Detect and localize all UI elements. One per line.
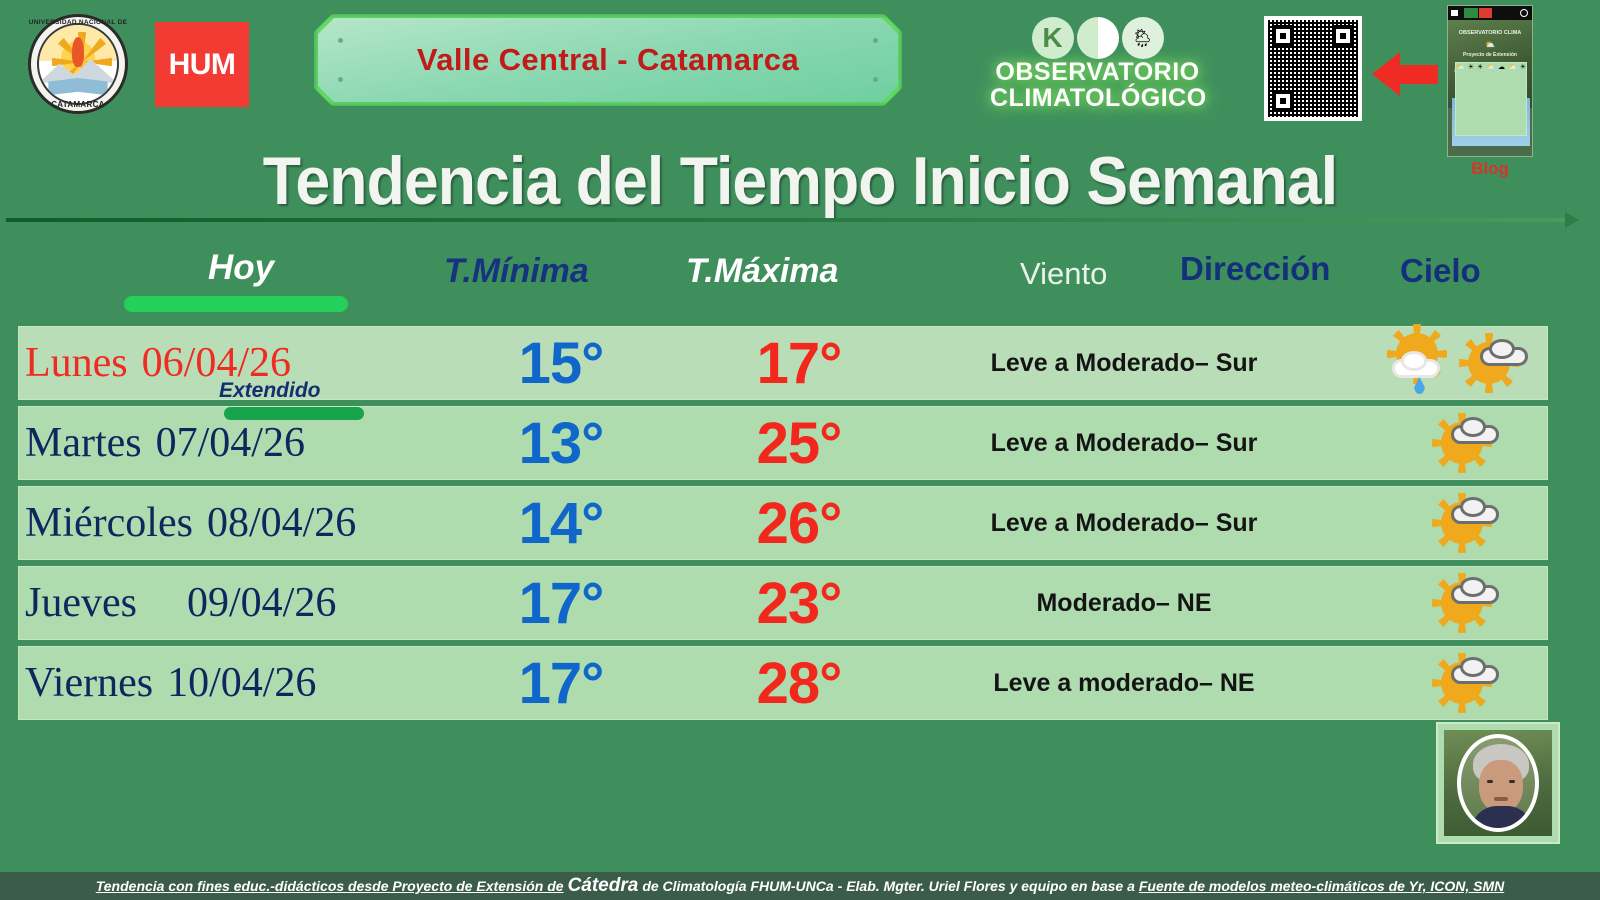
sky-cell: [1369, 407, 1549, 479]
wind-cell: Leve a Moderado– Sur: [879, 407, 1369, 479]
blog-site-title: OBSERVATORIO CLIMA: [1448, 30, 1532, 36]
column-header-maxima: T.Máxima: [686, 252, 838, 291]
footer-credits: Tendencia con fines educ.-didácticos des…: [0, 872, 1600, 900]
wind-cell: Leve a moderado– NE: [879, 647, 1369, 719]
day-name: Martes: [25, 419, 142, 467]
qr-finder-icon: [1272, 25, 1294, 47]
blog-thumbnail-image[interactable]: OBSERVATORIO CLIMA ⛅ Proyecto de Extensi…: [1447, 5, 1533, 157]
footer-catedra: Cátedra: [568, 875, 639, 897]
min-temp-value: 17°: [519, 570, 604, 637]
observatory-glyphs: 🌦: [990, 16, 1205, 60]
sky-cell: [1369, 567, 1549, 639]
hum-logo-text: HUM: [169, 48, 236, 82]
plaque-dot-icon: [338, 77, 343, 82]
observatory-line2: CLIMATOLÓGICO: [990, 86, 1205, 112]
min-temp-cell: 17°: [481, 567, 641, 639]
min-temp-cell: 17°: [481, 647, 641, 719]
sky-cell: [1369, 647, 1549, 719]
min-temp-cell: 15°: [481, 327, 641, 399]
max-temp-cell: 25°: [719, 407, 879, 479]
blog-preview[interactable]: OBSERVATORIO CLIMA ⛅ Proyecto de Extensi…: [1447, 5, 1533, 163]
qr-finder-icon: [1272, 90, 1294, 112]
max-temp-value: 23°: [757, 570, 842, 637]
table-row[interactable]: Jueves 09/04/26 17° 23° Moderado– NE: [18, 566, 1548, 640]
presenter-photo: [1436, 722, 1560, 844]
min-temp-value: 17°: [519, 650, 604, 717]
min-temp-value: 15°: [519, 330, 604, 397]
column-header-minima: T.Mínima: [444, 252, 589, 291]
wind-value: Leve a Moderado– Sur: [991, 349, 1258, 378]
day-date: 09/04/26: [187, 579, 336, 627]
footer-part1: Tendencia con fines educ.-didácticos des…: [96, 878, 564, 894]
wind-cell: Leve a Moderado– Sur: [879, 327, 1369, 399]
day-name: Jueves: [25, 579, 137, 627]
min-temp-value: 14°: [519, 490, 604, 557]
day-cell: Viernes 10/04/26: [25, 647, 495, 719]
unca-university-logo: UNIVERSIDAD NACIONAL DE CATAMARCA: [28, 14, 128, 114]
column-header-hoy: Hoy: [208, 248, 274, 288]
max-temp-cell: 28°: [719, 647, 879, 719]
observatory-logo: 🌦 OBSERVATORIO CLIMATOLÓGICO: [990, 16, 1205, 116]
column-header-cielo: Cielo: [1400, 252, 1481, 290]
unca-logo-bottom-text: CATAMARCA: [28, 100, 128, 109]
day-name: Miércoles: [25, 499, 193, 547]
qr-finder-icon: [1332, 25, 1354, 47]
blog-subtitle: Proyecto de Extensión: [1448, 52, 1532, 58]
observatory-line1: OBSERVATORIO: [990, 60, 1205, 86]
column-header-viento: Viento: [1020, 256, 1107, 292]
column-header-direccion: Dirección: [1180, 250, 1330, 288]
day-name: Viernes: [25, 659, 153, 707]
blog-weather-icon: ⛅: [1448, 40, 1532, 49]
plaque-dot-icon: [338, 38, 343, 43]
unca-logo-top-text: UNIVERSIDAD NACIONAL DE: [28, 19, 128, 26]
cloud-rain-icon: 🌦: [1122, 17, 1164, 59]
k-letter-icon: [1032, 17, 1074, 59]
day-cell: Jueves 09/04/26: [25, 567, 495, 639]
max-temp-cell: 23°: [719, 567, 879, 639]
sun-cloud-icon: [1423, 573, 1495, 633]
sky-cell: [1369, 487, 1549, 559]
sun-cloud-rain-icon: [1386, 333, 1458, 393]
day-date: 10/04/26: [167, 659, 316, 707]
wind-value: Leve a moderado– NE: [993, 669, 1254, 698]
max-temp-value: 28°: [757, 650, 842, 717]
plaque-dot-icon: [873, 38, 878, 43]
forecast-table: Lunes 06/04/26 Extendido 15° 17° Leve a …: [18, 326, 1548, 726]
red-arrow-icon: [1372, 52, 1438, 96]
min-temp-cell: 13°: [481, 407, 641, 479]
day-date: 07/04/26: [156, 419, 305, 467]
wind-value: Leve a Moderado– Sur: [991, 509, 1258, 538]
page-title: Tendencia del Tiempo Inicio Semanal: [64, 142, 1536, 220]
sun-cloud-icon: [1423, 493, 1495, 553]
sun-cloud-icon: [1423, 413, 1495, 473]
table-row[interactable]: Lunes 06/04/26 Extendido 15° 17° Leve a …: [18, 326, 1548, 400]
footer-part3: - Elab. Mgter. Uriel Flores y equipo en …: [838, 878, 1135, 894]
region-banner-text: Valle Central - Catamarca: [417, 42, 799, 78]
day-cell: Miércoles 08/04/26: [25, 487, 495, 559]
day-name: Lunes: [25, 339, 128, 387]
max-temp-value: 25°: [757, 410, 842, 477]
hoy-accent-pill: [124, 296, 348, 312]
max-temp-value: 17°: [757, 330, 842, 397]
sun-cloud-icon: [1460, 333, 1532, 393]
wind-cell: Leve a Moderado– Sur: [879, 487, 1369, 559]
region-banner: Valle Central - Catamarca: [318, 18, 898, 102]
sky-cell: [1369, 327, 1549, 399]
avatar: [1457, 734, 1539, 832]
max-temp-cell: 26°: [719, 487, 879, 559]
footer-part2: de Climatología FHUM-UNCa: [642, 878, 833, 894]
extendido-accent-pill: [224, 407, 364, 420]
min-temp-cell: 14°: [481, 487, 641, 559]
half-moon-icon: [1077, 17, 1119, 59]
footer-source: Fuente de modelos meteo-climáticos de Yr…: [1139, 878, 1504, 894]
table-row[interactable]: Viernes 10/04/26 17° 28° Leve a moderado…: [18, 646, 1548, 720]
wind-value: Moderado– NE: [1036, 589, 1211, 618]
table-row[interactable]: Miércoles 08/04/26 14° 26° Leve a Modera…: [18, 486, 1548, 560]
wind-cell: Moderado– NE: [879, 567, 1369, 639]
max-temp-value: 26°: [757, 490, 842, 557]
day-date: 08/04/26: [207, 499, 356, 547]
wind-value: Leve a Moderado– Sur: [991, 429, 1258, 458]
extendido-badge: Extendido: [219, 379, 321, 403]
title-underline-arrow: [6, 218, 1566, 222]
max-temp-cell: 17°: [719, 327, 879, 399]
min-temp-value: 13°: [519, 410, 604, 477]
sun-cloud-icon: [1423, 653, 1495, 713]
qr-code[interactable]: [1264, 16, 1362, 121]
top-header-bar: UNIVERSIDAD NACIONAL DE CATAMARCA HUM Va…: [0, 0, 1600, 132]
column-headers: Hoy T.Mínima T.Máxima Viento Dirección C…: [0, 238, 1600, 326]
plaque-dot-icon: [873, 77, 878, 82]
hum-logo: HUM: [155, 22, 249, 107]
